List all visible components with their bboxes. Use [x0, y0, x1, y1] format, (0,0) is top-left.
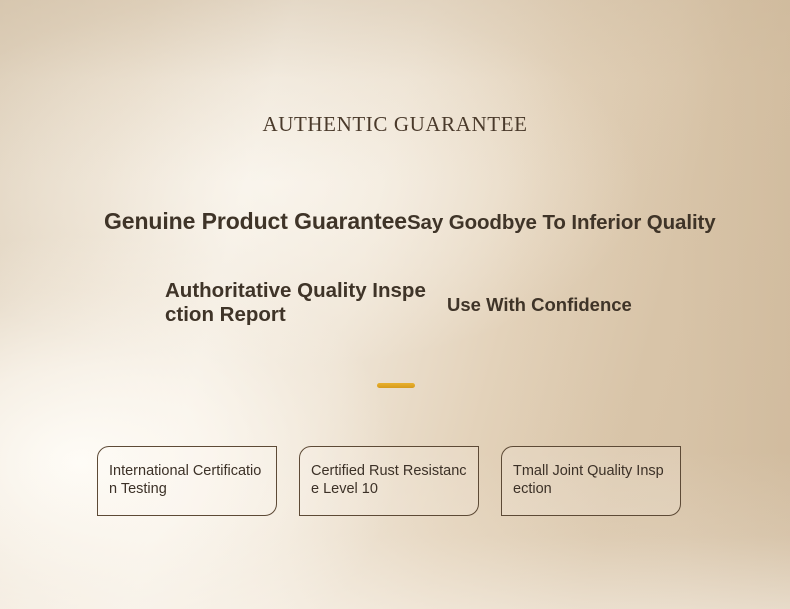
certification-badge[interactable]: Tmall Joint Quality Inspection: [501, 446, 681, 516]
banner-content: AUTHENTIC GUARANTEE Genuine Product Guar…: [0, 0, 790, 609]
certification-badge-label: Tmall Joint Quality Inspection: [513, 463, 669, 499]
certification-badge-row: International Certification Testing Cert…: [97, 446, 681, 516]
certification-badge[interactable]: International Certification Testing: [97, 446, 277, 516]
banner-eyebrow-title: AUTHENTIC GUARANTEE: [0, 112, 790, 137]
authentic-guarantee-banner: AUTHENTIC GUARANTEE Genuine Product Guar…: [0, 0, 790, 609]
gold-divider-icon: [377, 383, 415, 388]
subhead-secondary: Use With Confidence: [447, 294, 632, 316]
headline-primary: Genuine Product Guarantee: [104, 208, 407, 235]
subhead-primary: Authoritative Quality Inspection Report: [165, 279, 435, 327]
headline-secondary: Say Goodbye To Inferior Quality: [407, 211, 716, 235]
headline-row: Genuine Product Guarantee Say Goodbye To…: [104, 208, 716, 235]
certification-badge[interactable]: Certified Rust Resistance Level 10: [299, 446, 479, 516]
certification-badge-label: International Certification Testing: [109, 463, 265, 499]
certification-badge-label: Certified Rust Resistance Level 10: [311, 463, 467, 499]
